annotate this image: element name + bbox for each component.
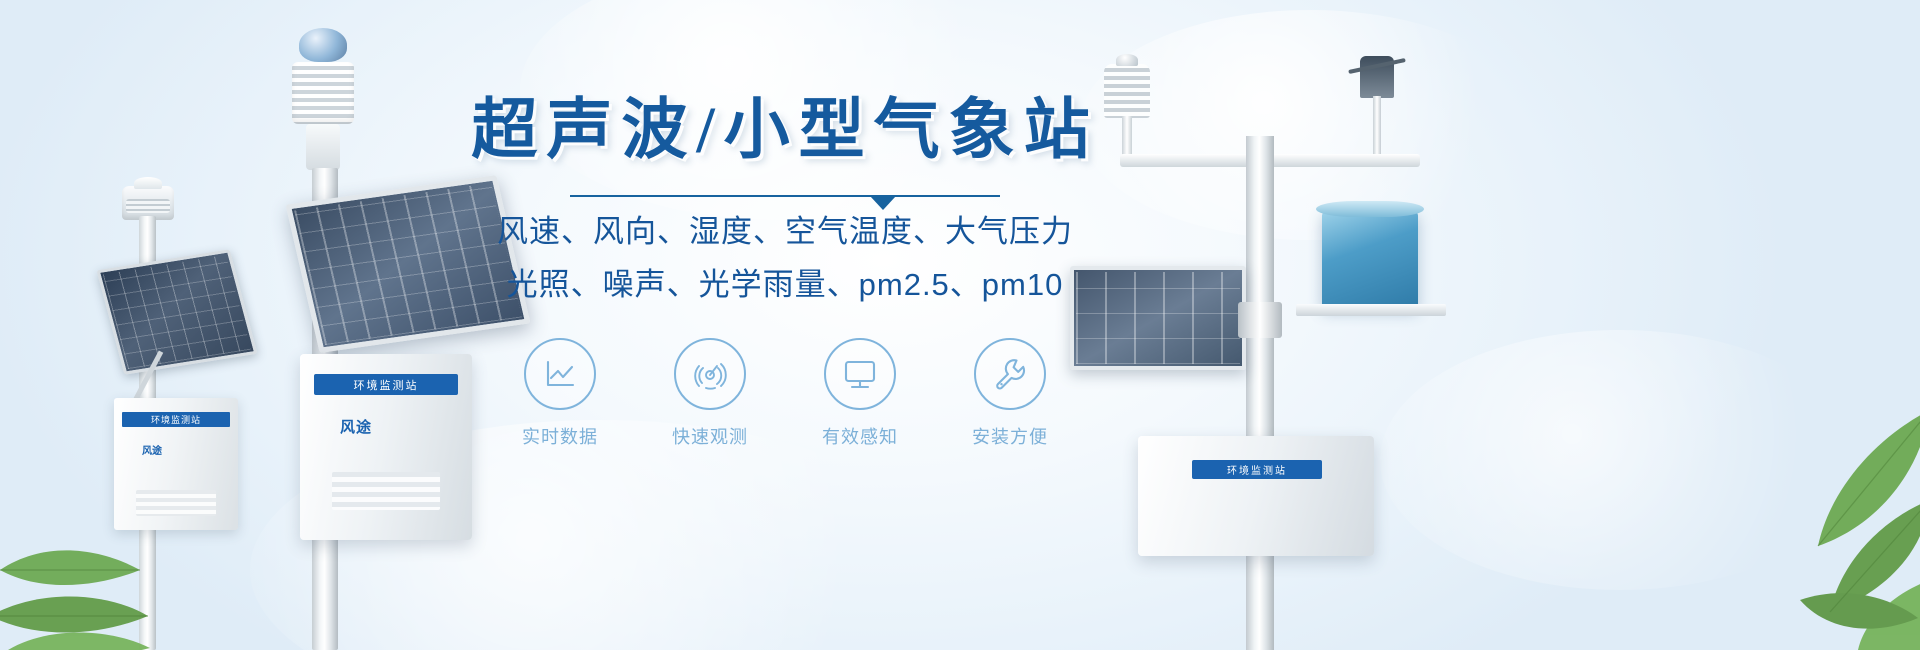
leaf-decoration-right bbox=[1680, 350, 1920, 650]
sensor-cup bbox=[306, 124, 340, 170]
cabinet-tag-label: 环境监测站 bbox=[1192, 460, 1322, 479]
feature-list: 实时数据 快速观测 bbox=[440, 338, 1130, 449]
feature-label: 有效感知 bbox=[806, 423, 914, 449]
feature-icon-circle bbox=[524, 338, 596, 410]
feature-item-effective-sensing[interactable]: 有效感知 bbox=[806, 338, 914, 449]
equipment-shelf bbox=[1296, 304, 1446, 316]
subtitle-line-1: 风速、风向、湿度、空气温度、大气压力 bbox=[440, 209, 1130, 256]
feature-label: 实时数据 bbox=[506, 423, 614, 449]
mast-collar bbox=[1238, 302, 1282, 338]
solar-panel bbox=[96, 249, 257, 374]
radiation-dome-icon bbox=[299, 28, 347, 62]
wrench-icon bbox=[989, 353, 1031, 395]
control-cabinet: 环境监测站 bbox=[1138, 436, 1374, 556]
brand-logo: 风途 bbox=[340, 416, 372, 437]
feature-icon-circle bbox=[674, 338, 746, 410]
triangle-marker-icon bbox=[870, 196, 896, 210]
cabinet-tag-label: 环境监测站 bbox=[314, 374, 458, 395]
feature-item-easy-installation[interactable]: 安装方便 bbox=[956, 338, 1064, 449]
weather-station-mast: 环境监测站 bbox=[1060, 50, 1530, 650]
line-chart-icon bbox=[540, 354, 580, 394]
sensor-stem bbox=[1373, 96, 1381, 158]
brand-logo: 风途 bbox=[142, 442, 162, 457]
subtitle-line-2: 光照、噪声、光学雨量、pm2.5、pm10 bbox=[440, 262, 1130, 309]
cabinet-vent bbox=[332, 472, 440, 510]
radiation-shield bbox=[292, 62, 354, 124]
station-mast bbox=[1246, 136, 1274, 650]
radar-observation-icon bbox=[690, 354, 730, 394]
feature-label: 快速观测 bbox=[656, 423, 764, 449]
cabinet-tag-label: 环境监测站 bbox=[122, 412, 230, 427]
title-divider bbox=[570, 195, 1000, 197]
feature-label: 安装方便 bbox=[956, 423, 1064, 449]
product-banner: 环境监测站 风途 环境监测站 风途 环境监测站 bbox=[0, 0, 1920, 650]
banner-content: 超声波/小型气象站 风速、风向、湿度、空气温度、大气压力 光照、噪声、光学雨量、… bbox=[440, 96, 1130, 449]
monitor-icon bbox=[839, 353, 881, 395]
sensor-head-icon bbox=[122, 186, 174, 220]
page-title: 超声波/小型气象站 bbox=[440, 96, 1130, 165]
feature-icon-circle bbox=[824, 338, 896, 410]
cabinet-vent bbox=[136, 490, 216, 516]
feature-item-fast-observation[interactable]: 快速观测 bbox=[656, 338, 764, 449]
wind-vane-icon bbox=[1360, 56, 1394, 98]
rain-gauge bbox=[1322, 210, 1418, 308]
control-cabinet: 环境监测站 风途 bbox=[114, 398, 238, 530]
feature-icon-circle bbox=[974, 338, 1046, 410]
feature-item-realtime-data[interactable]: 实时数据 bbox=[506, 338, 614, 449]
